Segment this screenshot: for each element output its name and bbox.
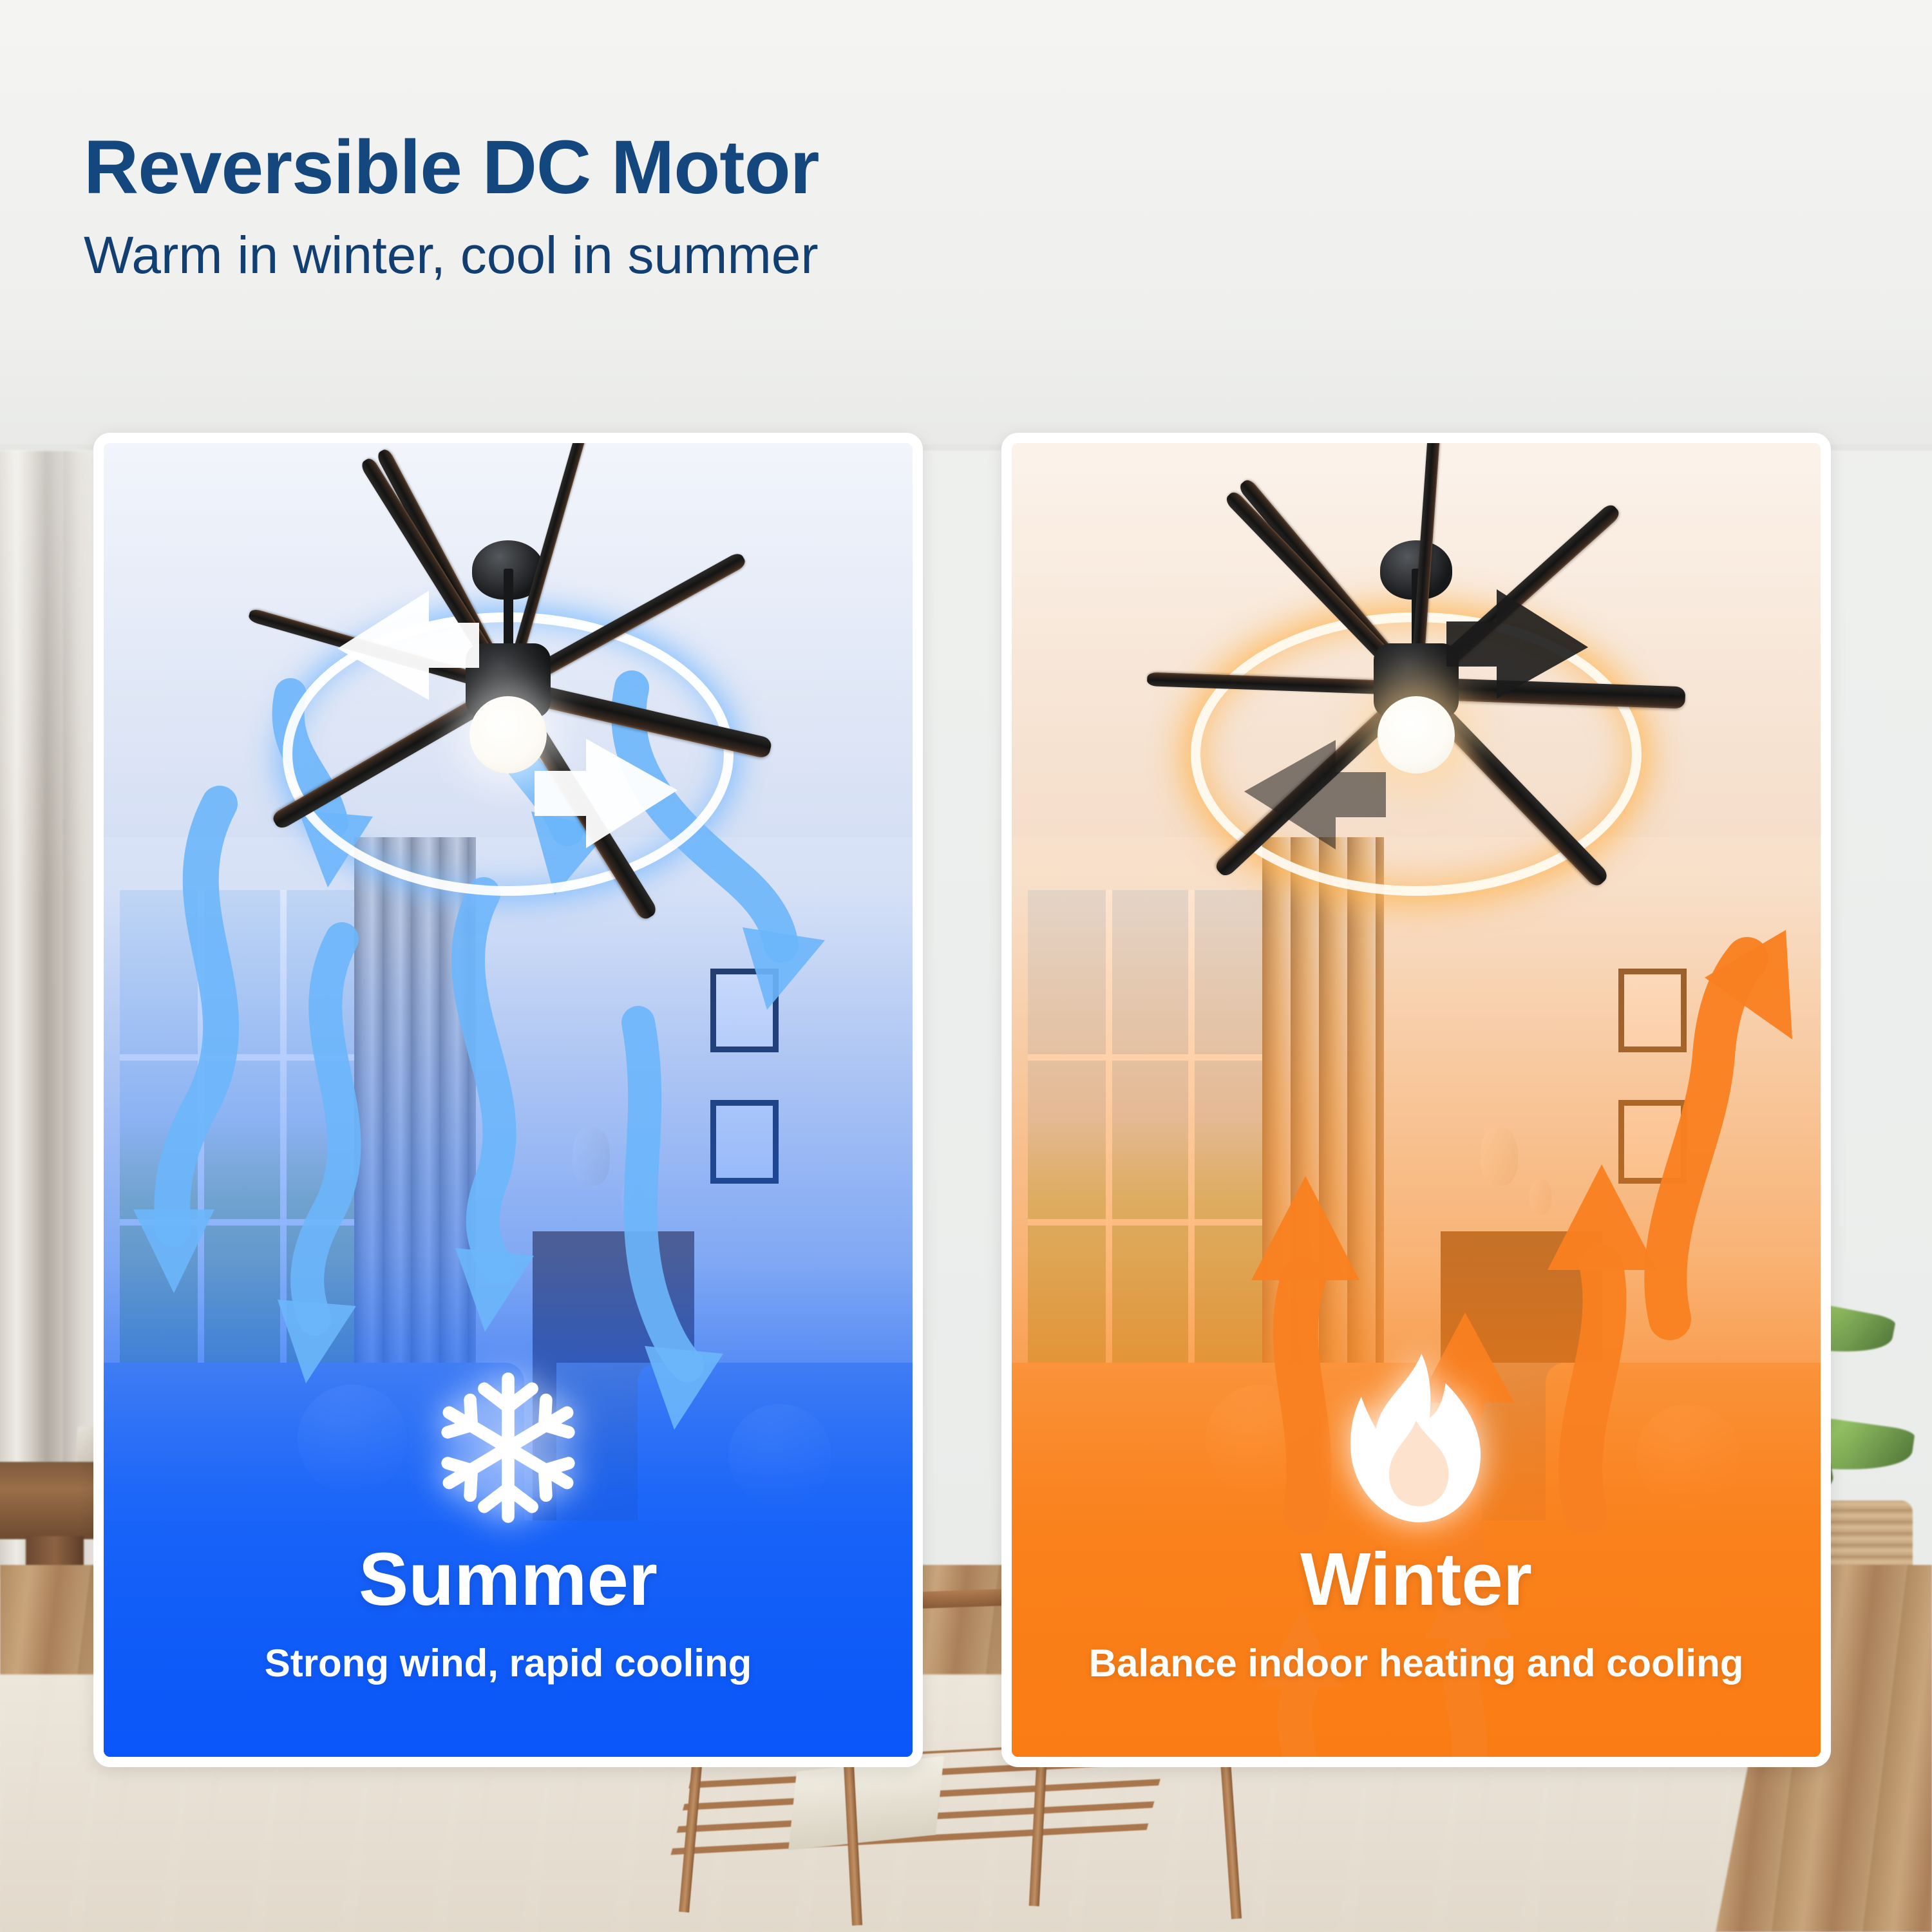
rotation-arrow-clockwise xyxy=(1084,535,1748,883)
winter-labels: Winter Balance indoor heating and coolin… xyxy=(1012,1542,1821,1685)
winter-room-scene: Winter Balance indoor heating and coolin… xyxy=(1012,443,1821,1757)
ceiling-fan xyxy=(1084,535,1748,883)
season-title: Summer xyxy=(104,1542,913,1616)
page-subtitle: Warm in winter, cool in summer xyxy=(84,228,1307,283)
page-title: Reversible DC Motor xyxy=(84,129,1307,206)
airflow-arrow-down xyxy=(554,1023,773,1473)
ceiling-fan xyxy=(176,535,840,883)
season-tagline: Strong wind, rapid cooling xyxy=(104,1642,913,1685)
header: Reversible DC Motor Warm in winter, cool… xyxy=(84,129,1307,283)
panel-winter[interactable]: Winter Balance indoor heating and coolin… xyxy=(1001,433,1831,1767)
summer-room-scene: Summer Strong wind, rapid cooling xyxy=(104,443,913,1757)
panel-summer[interactable]: Summer Strong wind, rapid cooling xyxy=(93,433,923,1767)
flame-icon xyxy=(1349,1351,1484,1525)
summer-labels: Summer Strong wind, rapid cooling xyxy=(104,1542,913,1685)
product-infographic: Reversible DC Motor Warm in winter, cool… xyxy=(0,0,1932,1932)
rotation-arrow-counterclockwise xyxy=(176,535,840,883)
season-tagline: Balance indoor heating and cooling xyxy=(1012,1642,1821,1685)
background-books xyxy=(788,1756,944,1850)
airflow-arrow-up xyxy=(1611,842,1804,1332)
snowflake-icon xyxy=(437,1370,579,1525)
season-title: Winter xyxy=(1012,1542,1821,1616)
